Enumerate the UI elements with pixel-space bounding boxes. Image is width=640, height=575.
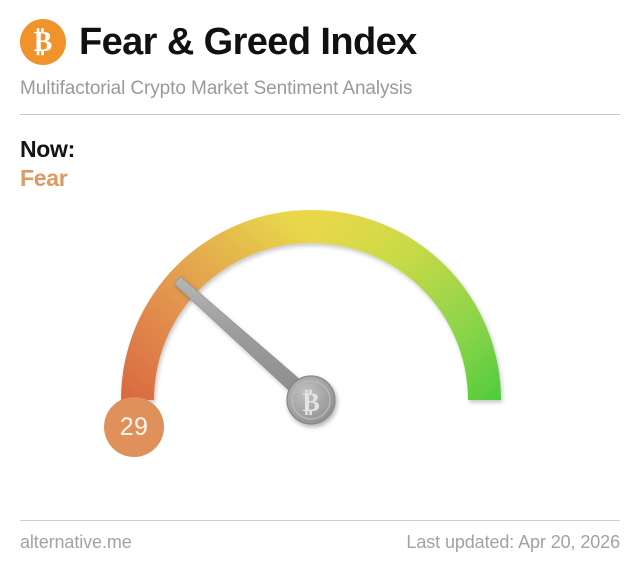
title-row: ₿ Fear & Greed Index bbox=[20, 16, 620, 68]
source-label[interactable]: alternative.me bbox=[20, 532, 132, 553]
status-now-label: Now: bbox=[20, 136, 75, 163]
gauge-svg: ₿ bbox=[0, 185, 640, 505]
last-updated-label: Last updated: Apr 20, 2026 bbox=[406, 532, 620, 553]
footer-divider bbox=[20, 520, 620, 521]
svg-text:₿: ₿ bbox=[34, 27, 53, 58]
status-block: Now: Fear bbox=[20, 136, 75, 192]
footer: alternative.me Last updated: Apr 20, 202… bbox=[20, 532, 620, 553]
svg-text:₿: ₿ bbox=[302, 388, 319, 417]
bitcoin-icon: ₿ bbox=[20, 19, 66, 65]
gauge-arc bbox=[121, 210, 501, 400]
gauge-value: 29 bbox=[120, 415, 149, 440]
page-title: Fear & Greed Index bbox=[79, 23, 417, 61]
page-subtitle: Multifactorial Crypto Market Sentiment A… bbox=[20, 79, 620, 98]
header-divider bbox=[20, 114, 620, 115]
header: ₿ Fear & Greed Index Multifactorial Cryp… bbox=[20, 16, 620, 98]
gauge-chart: ₿ 29 bbox=[0, 185, 640, 505]
gauge-hub-bitcoin-icon: ₿ bbox=[287, 376, 335, 424]
gauge-value-badge: 29 bbox=[104, 397, 164, 457]
fear-greed-index-page: ₿ Fear & Greed Index Multifactorial Cryp… bbox=[0, 0, 640, 575]
